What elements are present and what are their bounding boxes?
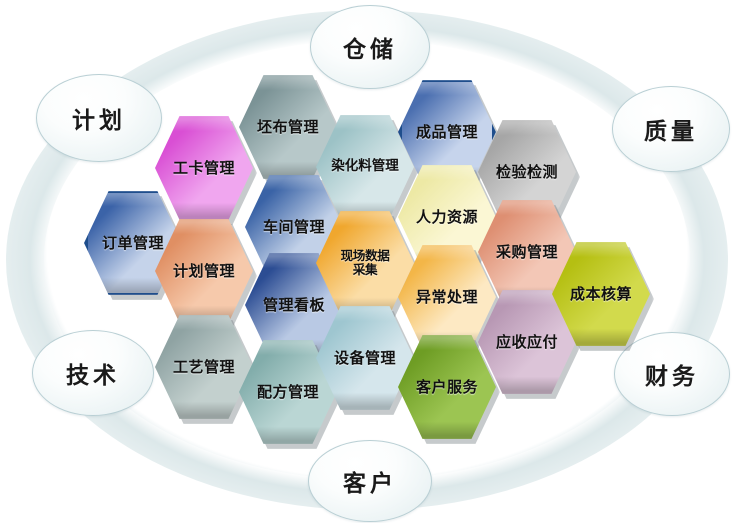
diagram-canvas: 仓储 计划 质量 技术 财务 客户 订单管理工卡管理计划管理工艺管理坯布管理车间… — [0, 0, 734, 523]
outer-label-text: 财务 — [645, 357, 699, 391]
module-label: 现场数据 采集 — [337, 249, 394, 277]
module-label: 配方管理 — [253, 384, 323, 401]
outer-label-cangchu: 仓储 — [310, 5, 430, 89]
module-label: 成品管理 — [412, 124, 482, 141]
module-label: 车间管理 — [259, 219, 329, 236]
module-label: 设备管理 — [330, 350, 400, 367]
module-label: 计划管理 — [169, 263, 239, 280]
module-label: 成本核算 — [566, 286, 636, 303]
module-label: 客户服务 — [412, 379, 482, 396]
module-label: 染化料管理 — [327, 159, 403, 174]
module-label: 订单管理 — [98, 235, 168, 252]
outer-label-text: 计划 — [72, 101, 126, 135]
outer-label-jihua: 计划 — [36, 74, 162, 162]
module-label: 工卡管理 — [169, 160, 239, 177]
outer-label-zhiliang: 质量 — [612, 86, 730, 172]
module-label: 工艺管理 — [169, 359, 239, 376]
outer-label-kehu: 客户 — [308, 440, 432, 522]
module-label: 异常处理 — [412, 289, 482, 306]
outer-label-jishu: 技术 — [32, 330, 154, 416]
module-label: 人力资源 — [412, 209, 482, 226]
outer-label-text: 技术 — [66, 356, 120, 390]
module-label: 坯布管理 — [253, 119, 323, 136]
outer-label-text: 质量 — [644, 112, 698, 146]
module-label: 管理看板 — [259, 297, 329, 314]
module-label: 检验检测 — [492, 164, 562, 181]
outer-label-text: 客户 — [343, 464, 397, 498]
module-label: 采购管理 — [492, 244, 562, 261]
module-label: 应收应付 — [492, 334, 562, 351]
outer-label-text: 仓储 — [343, 30, 397, 64]
